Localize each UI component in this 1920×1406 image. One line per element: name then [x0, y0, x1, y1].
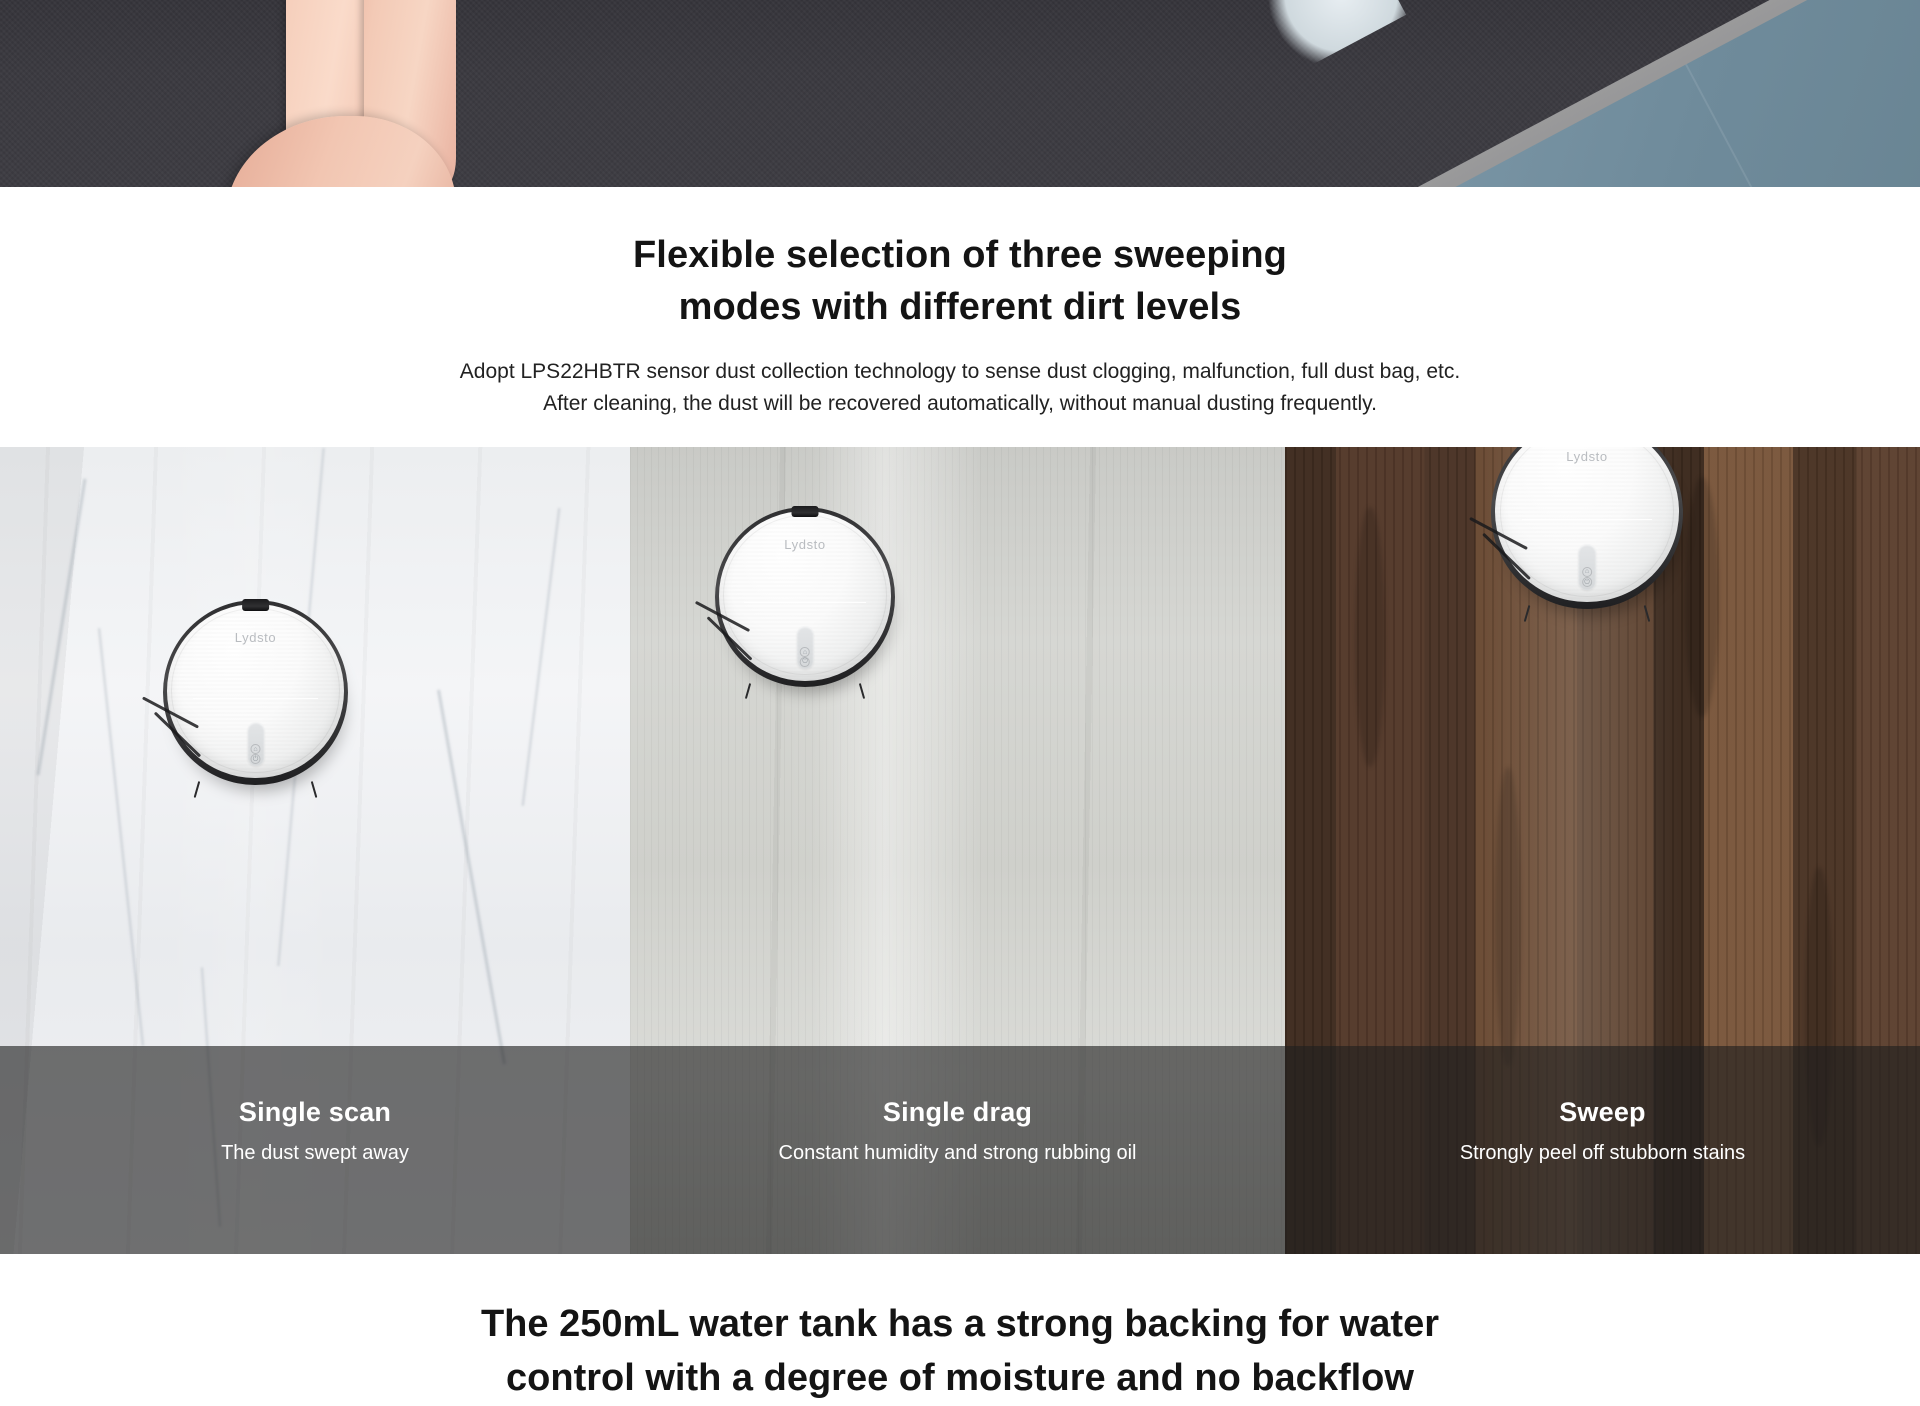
intro-heading-line-2: modes with different dirt levels	[679, 286, 1242, 328]
intro-heading: Flexible selection of three sweeping mod…	[0, 229, 1920, 334]
robot-vacuum-panel-2: Lydsto ⌂ ⏻	[715, 507, 895, 687]
caption-single-drag: Single drag Constant humidity and strong…	[630, 1046, 1285, 1166]
power-icon[interactable]: ⏻	[800, 657, 810, 667]
hand-illustration	[286, 0, 486, 187]
robot-sensor-bar	[792, 506, 819, 517]
power-icon[interactable]: ⏻	[1582, 577, 1592, 587]
intro-paragraph-line-2: After cleaning, the dust will be recover…	[543, 392, 1377, 415]
robot-vacuum-panel-1: Lydsto ⌂ ⏻	[163, 600, 348, 785]
outro-heading-line-2: control with a degree of moisture and no…	[506, 1357, 1414, 1399]
robot-bumper-line	[1522, 519, 1653, 520]
robot-button-group[interactable]: ⌂ ⏻	[1578, 544, 1596, 590]
caption-sweep: Sweep Strongly peel off stubborn stains	[1285, 1046, 1920, 1166]
robot-button-group[interactable]: ⌂ ⏻	[247, 722, 264, 766]
power-icon[interactable]: ⏻	[251, 754, 261, 764]
robot-bumper-line	[193, 698, 319, 699]
outro-heading-line-1: The 250mL water tank has a strong backin…	[481, 1303, 1439, 1345]
caption-title: Sweep	[1285, 1096, 1920, 1128]
home-icon[interactable]: ⌂	[251, 744, 261, 754]
caption-subtitle: Strongly peel off stubborn stains	[1285, 1141, 1920, 1166]
caption-title: Single scan	[0, 1096, 630, 1128]
outro-section: The 250mL water tank has a strong backin…	[0, 1254, 1920, 1406]
robot-vacuum-panel-3: Lydsto ⌂ ⏻	[1491, 447, 1683, 609]
intro-paragraph-line-1: Adopt LPS22HBTR sensor dust collection t…	[460, 360, 1460, 383]
robot-button-group[interactable]: ⌂ ⏻	[797, 626, 814, 669]
home-icon[interactable]: ⌂	[800, 647, 810, 657]
intro-section: Flexible selection of three sweeping mod…	[0, 187, 1920, 447]
robot-brand-label: Lydsto	[784, 537, 825, 552]
product-feature-page: Flexible selection of three sweeping mod…	[0, 0, 1920, 1397]
robot-bumper-line	[744, 602, 866, 603]
caption-title: Single drag	[630, 1096, 1285, 1128]
hero-image	[0, 0, 1920, 187]
intro-paragraph: Adopt LPS22HBTR sensor dust collection t…	[0, 356, 1920, 421]
home-icon[interactable]: ⌂	[1582, 567, 1592, 577]
mode-caption-overlay: Single scan The dust swept away Single d…	[0, 1046, 1920, 1254]
caption-single-scan: Single scan The dust swept away	[0, 1046, 630, 1166]
robot-brand-label: Lydsto	[1566, 449, 1607, 464]
robot-brand-label: Lydsto	[235, 630, 276, 645]
sweeping-modes-gallery: Lydsto ⌂ ⏻	[0, 447, 1920, 1254]
caption-subtitle: The dust swept away	[0, 1141, 630, 1166]
robot-sensor-bar	[242, 599, 270, 610]
caption-subtitle: Constant humidity and strong rubbing oil	[630, 1141, 1285, 1166]
intro-heading-line-1: Flexible selection of three sweeping	[633, 234, 1287, 276]
outro-heading: The 250mL water tank has a strong backin…	[0, 1298, 1920, 1406]
